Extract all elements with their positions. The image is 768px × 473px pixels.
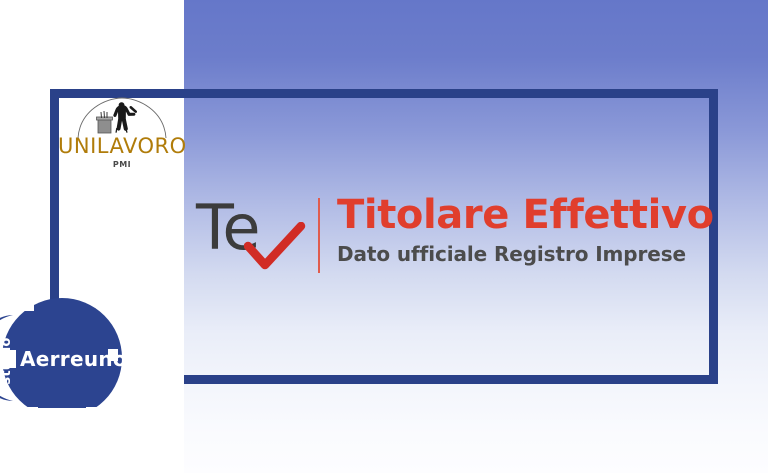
- studio-label: studio: [0, 331, 15, 391]
- studio-aerreuno-badge: studio Aerreuno: [0, 297, 142, 422]
- unilavoro-logo: UNILAVORO PMI: [58, 96, 186, 172]
- vertical-divider: [318, 198, 320, 273]
- aerreuno-label: Aerreuno: [20, 348, 127, 370]
- page-subtitle: Dato ufficiale Registro Imprese: [337, 241, 737, 267]
- headline-block: Titolare Effettivo Dato ufficiale Regist…: [337, 191, 737, 267]
- red-checkmark-icon: [244, 222, 306, 274]
- unilavoro-subtitle: PMI: [58, 161, 186, 169]
- banner-canvas: UNILAVORO PMI Te Titolare Effettivo Dato…: [0, 0, 768, 473]
- unilavoro-wordmark: UNILAVORO: [58, 136, 186, 157]
- page-title: Titolare Effettivo: [337, 191, 737, 239]
- te-brand-mark: Te: [196, 196, 306, 272]
- golfer-swing-icon: [58, 96, 186, 138]
